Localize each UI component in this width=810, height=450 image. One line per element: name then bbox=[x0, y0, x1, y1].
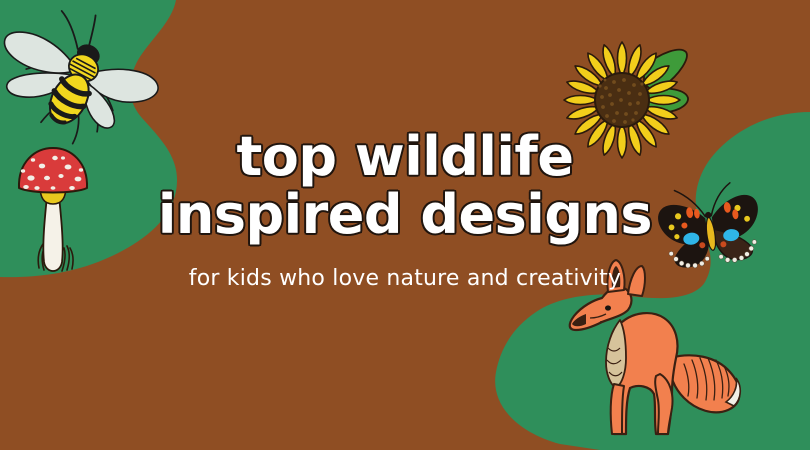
mushroom-illustration bbox=[19, 148, 87, 271]
fox-chest-ruff bbox=[606, 320, 626, 388]
fox-front-leg bbox=[611, 384, 624, 434]
mushroom-stem bbox=[43, 196, 62, 271]
fox-illustration bbox=[570, 260, 741, 434]
mushroom-cap bbox=[19, 148, 87, 193]
illustration-layer bbox=[0, 0, 810, 450]
fox-eye bbox=[605, 305, 611, 310]
butterfly-illustration bbox=[655, 180, 764, 272]
wildlife-banner: top wildlife inspired designs for kids w… bbox=[0, 0, 810, 450]
bee-illustration bbox=[0, 0, 175, 167]
sunflower-illustration bbox=[564, 42, 688, 158]
fox-ear-back bbox=[628, 266, 645, 296]
